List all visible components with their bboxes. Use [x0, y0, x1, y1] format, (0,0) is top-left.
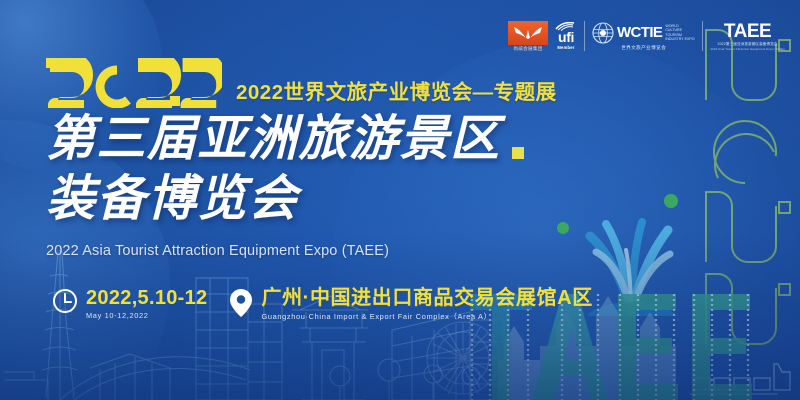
clock-icon: [52, 288, 78, 319]
logo-wctie: WCTIE WORLD CULTURE TOURISM INDUSTRY EXP…: [592, 22, 695, 51]
wctie-tagline: WORLD CULTURE TOURISM INDUSTRY EXPO: [665, 24, 695, 41]
logo-ufi: ufi Member: [555, 22, 577, 50]
event-date-main: 2022,5.10-12: [86, 287, 207, 309]
logo-divider-2: [702, 21, 703, 51]
headline-title-line1: 第三届亚洲旅游景区: [46, 112, 501, 168]
ufi-wordmark: ufi: [558, 31, 574, 44]
partner-logo-strip: 尚威会展集团 ufi Member WCTIE: [508, 16, 785, 56]
event-venue-sub: Guangzhou·China Import & Export Fair Com…: [261, 311, 592, 322]
shangwei-cn-label: 尚威会展集团: [513, 46, 542, 52]
shangwei-mark-icon: [508, 21, 548, 45]
headline-title-dot: [512, 147, 524, 159]
year-2022-logo: [46, 58, 222, 108]
wctie-cn-label: 世界文旅产业博览会: [621, 45, 666, 51]
wctie-wordmark: WCTIE: [617, 25, 662, 40]
headline-subtitle-cn: 2022世界文旅产业博览会—专题展: [236, 75, 557, 108]
location-pin-icon: [229, 288, 253, 323]
taee-wordmark: TAEE: [724, 22, 771, 41]
logo-shangwei: 尚威会展集团: [508, 21, 548, 52]
expo-banner-poster: 尚威会展集团 ufi Member WCTIE: [0, 0, 800, 400]
event-venue-main: 广州·中国进出口商品交易会展馆A区: [261, 287, 592, 309]
decor-dot-green-right: [664, 194, 678, 208]
event-info-row: 2022,5.10-12 May 10-12,2022 广州·中国进出口商品交易…: [52, 287, 593, 323]
logo-taee: TAEE 2022第三届亚洲旅游景区装备博览会 2022 Asia Touris…: [710, 22, 784, 51]
event-venue-item: 广州·中国进出口商品交易会展馆A区 Guangzhou·China Import…: [229, 287, 592, 323]
taee-en-label: 2022 Asia Tourist Attraction Equipment E…: [710, 47, 784, 51]
event-date-sub: May 10-12,2022: [86, 311, 207, 320]
wctie-globe-icon: [592, 22, 614, 44]
ufi-member-label: Member: [557, 45, 574, 50]
logo-divider-1: [584, 21, 585, 51]
event-date-item: 2022,5.10-12 May 10-12,2022: [52, 287, 207, 320]
